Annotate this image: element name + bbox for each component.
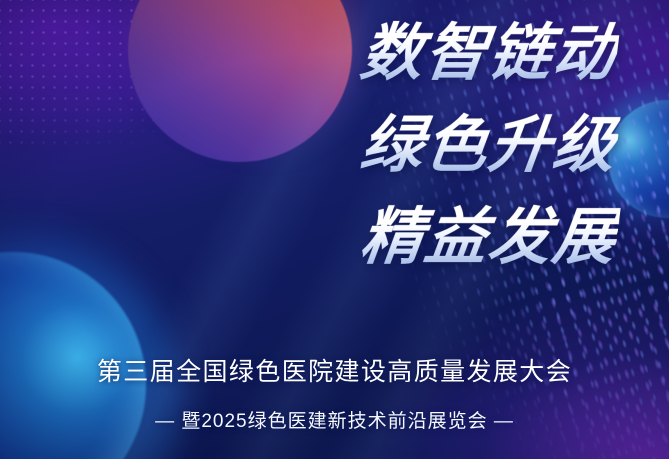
subtitle-group: 第三届全国绿色医院建设高质量发展大会 — 暨2025绿色医建新技术前沿展览会 — [0,352,669,433]
headline: 数智链动 绿色升级 精益发展 [0,8,617,284]
conference-name: 第三届全国绿色医院建设高质量发展大会 [0,352,669,388]
exhibition-name: — 暨2025绿色医建新技术前沿展览会 — [0,406,669,433]
headline-line-2: 绿色升级 [0,100,623,192]
headline-line-1: 数智链动 [0,8,623,100]
headline-line-3: 精益发展 [0,192,623,284]
conference-poster: 数智链动 绿色升级 精益发展 第三届全国绿色医院建设高质量发展大会 — 暨202… [0,0,669,459]
